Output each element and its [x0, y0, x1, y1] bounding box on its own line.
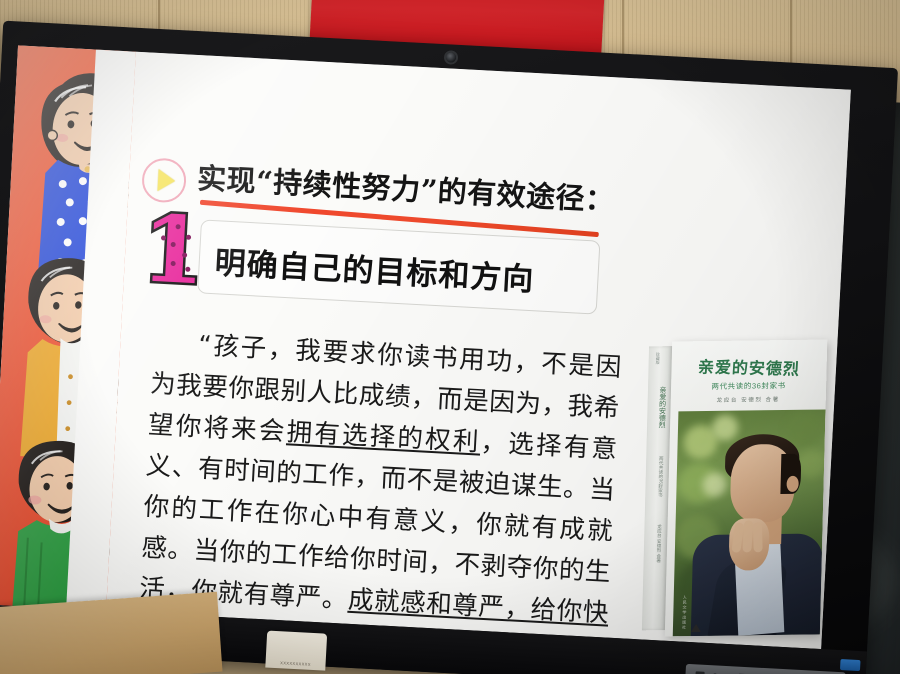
- panel-sticker-text: XXXXXXXXXX: [280, 660, 311, 667]
- interactive-flat-panel[interactable]: 实现“持续性努力”的有效途径： 1 明确自己的目标和方向 “孩: [0, 21, 898, 674]
- book-front-cover: 亲爱的安德烈 两代共读的36封家书 龙应台 安德烈 合著: [665, 339, 828, 636]
- presentation-slide[interactable]: 实现“持续性努力”的有效途径： 1 明确自己的目标和方向 “孩: [0, 45, 851, 649]
- panel-brand-badge: [840, 659, 861, 671]
- photo-scene: 实现“持续性努力”的有效途径： 1 明确自己的目标和方向 “孩: [0, 0, 900, 674]
- book-publisher-mark: 人民文学出版社: [681, 595, 688, 630]
- panel-io-strip[interactable]: [685, 664, 846, 674]
- book-spine-subtitle: 两代共读的36封家书: [653, 456, 664, 497]
- book-spine-tag: 珍藏版: [655, 352, 661, 364]
- slide-illustration-strip: [0, 45, 136, 610]
- book-cover-photo: 人民文学出版社: [673, 409, 826, 636]
- book-spine-authors: 龙应台 安德烈 合著: [652, 524, 663, 563]
- book-title: 亲爱的安德烈: [671, 353, 827, 380]
- book-subtitle: 两代共读的36封家书: [671, 379, 826, 392]
- book-spine-title: 亲爱的安德烈: [654, 386, 667, 428]
- classroom-desk: [0, 592, 222, 674]
- book-photo: 珍藏版 亲爱的安德烈 两代共读的36封家书 龙应台 安德烈 合著 亲爱的安德烈 …: [642, 338, 827, 637]
- panel-sticker: XXXXXXXXXX: [265, 631, 327, 671]
- quote-seg-2-underlined: 拥有选择的权利: [286, 417, 482, 457]
- slide-heading: 实现“持续性努力”的有效途径：: [196, 155, 618, 219]
- book-authors: 龙应台 安德烈 合著: [671, 394, 826, 404]
- slide-heading-text: 实现“持续性努力”的有效途径：: [196, 155, 618, 219]
- camera-dot-icon: [446, 52, 457, 63]
- screen[interactable]: 实现“持续性努力”的有效途径： 1 明确自己的目标和方向 “孩: [0, 45, 851, 649]
- publisher-logo-icon: [691, 624, 701, 632]
